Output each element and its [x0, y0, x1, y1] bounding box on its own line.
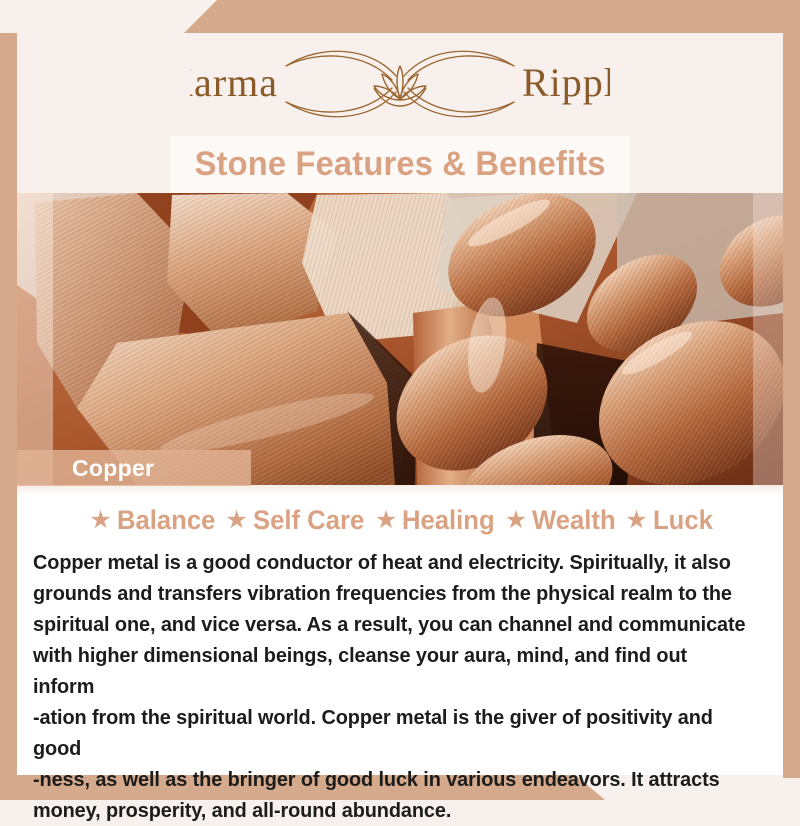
benefit-item-healing: ★ Healing [370, 505, 500, 536]
logo-word-ripple: Ripple [522, 60, 610, 105]
description-line: Copper metal is a good conductor of heat… [33, 547, 749, 578]
benefit-item-luck: ★ Luck [620, 505, 715, 536]
description-line: -ness, as well as the bringer of good lu… [33, 764, 749, 795]
star-icon: ★ [89, 508, 111, 533]
page-title: Stone Features & Benefits [194, 145, 605, 184]
photo-right-overlay [753, 193, 783, 485]
brand-logo: Karma Ripple [0, 33, 800, 135]
right-accent-strip [783, 33, 800, 778]
description-line: grounds and transfers vibration frequenc… [33, 578, 749, 609]
benefit-label: Healing [402, 505, 495, 536]
description-line: -ation from the spiritual world. Copper … [33, 702, 749, 764]
star-icon: ★ [625, 508, 647, 533]
left-accent-strip [0, 33, 17, 778]
hero-caption: Copper [17, 450, 251, 486]
card-top-fade [17, 485, 783, 495]
description-block: Copper metal is a good conductor of heat… [33, 547, 771, 826]
benefit-item-wealth: ★ Wealth [500, 505, 620, 536]
copper-rods-illustration [17, 193, 783, 485]
description-line: spiritual one, and vice versa. As a resu… [33, 609, 749, 640]
benefits-row: ★ Balance ★ Self Care ★ Healing ★ Wealth… [17, 501, 783, 539]
logo-word-karma: Karma [190, 60, 278, 105]
star-icon: ★ [225, 508, 247, 533]
benefit-item-self-care: ★ Self Care [220, 505, 369, 536]
benefit-label: Balance [117, 505, 215, 536]
hero-image-copper-rods [17, 193, 783, 485]
title-banner: Stone Features & Benefits [170, 136, 630, 193]
photo-left-overlay [17, 193, 53, 485]
benefit-label: Self Care [253, 505, 364, 536]
benefit-label: Luck [653, 505, 713, 536]
lotus-icon [374, 66, 426, 106]
star-icon: ★ [375, 508, 397, 533]
hero-caption-label: Copper [17, 455, 154, 482]
benefit-label: Wealth [532, 505, 616, 536]
star-icon: ★ [505, 508, 527, 533]
logo-artwork: Karma Ripple [190, 36, 610, 132]
description-line: with higher dimensional beings, cleanse … [33, 640, 749, 702]
benefit-item-balance: ★ Balance [84, 505, 220, 536]
content-card: ★ Balance ★ Self Care ★ Healing ★ Wealth… [17, 485, 783, 775]
